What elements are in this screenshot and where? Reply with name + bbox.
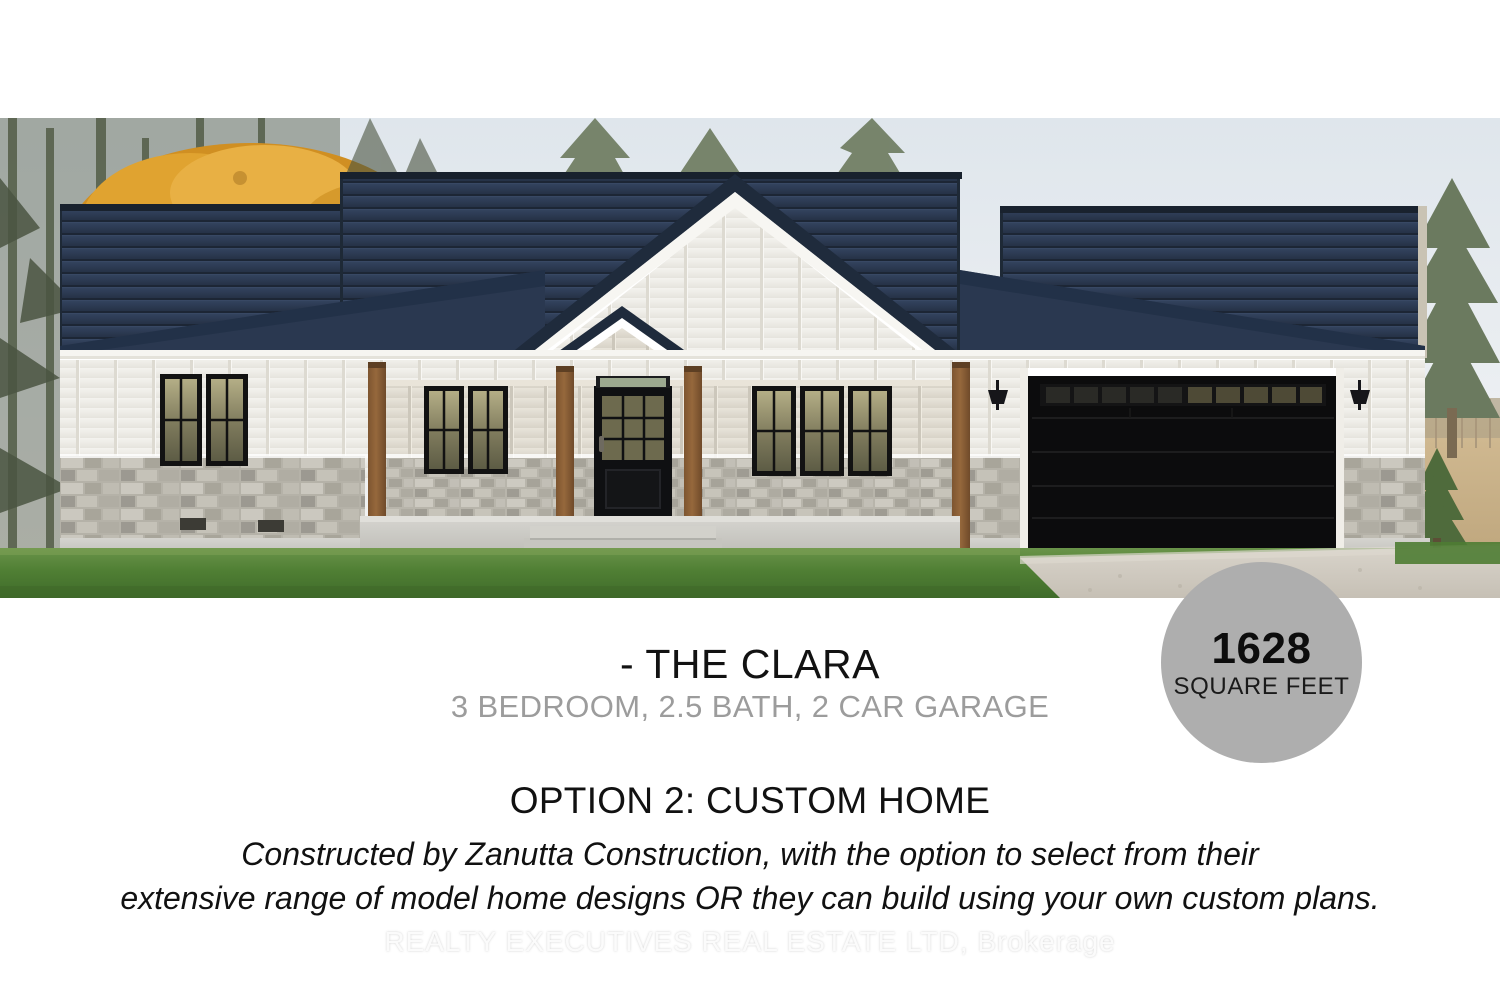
square-footage-value: 1628 <box>1212 627 1312 671</box>
description-line-2: extensive range of model home designs OR… <box>0 876 1500 920</box>
house-illustration <box>0 118 1500 598</box>
window-triple-porch-right <box>752 386 892 476</box>
square-footage-unit: SQUARE FEET <box>1174 675 1350 699</box>
soffit <box>60 350 1425 359</box>
front-door <box>594 376 672 518</box>
garage-door <box>1020 368 1344 550</box>
listing-card: 1628 SQUARE FEET - THE CLARA 3 BEDROOM, … <box>0 0 1500 1000</box>
description-line-1: Constructed by Zanutta Construction, wit… <box>0 832 1500 876</box>
property-photo <box>0 118 1500 598</box>
option-heading: OPTION 2: CUSTOM HOME <box>0 782 1500 819</box>
brokerage-watermark: REALTY EXECUTIVES REAL ESTATE LTD, Broke… <box>0 928 1500 956</box>
option-description: Constructed by Zanutta Construction, wit… <box>0 832 1500 920</box>
square-footage-badge: 1628 SQUARE FEET <box>1161 562 1362 763</box>
